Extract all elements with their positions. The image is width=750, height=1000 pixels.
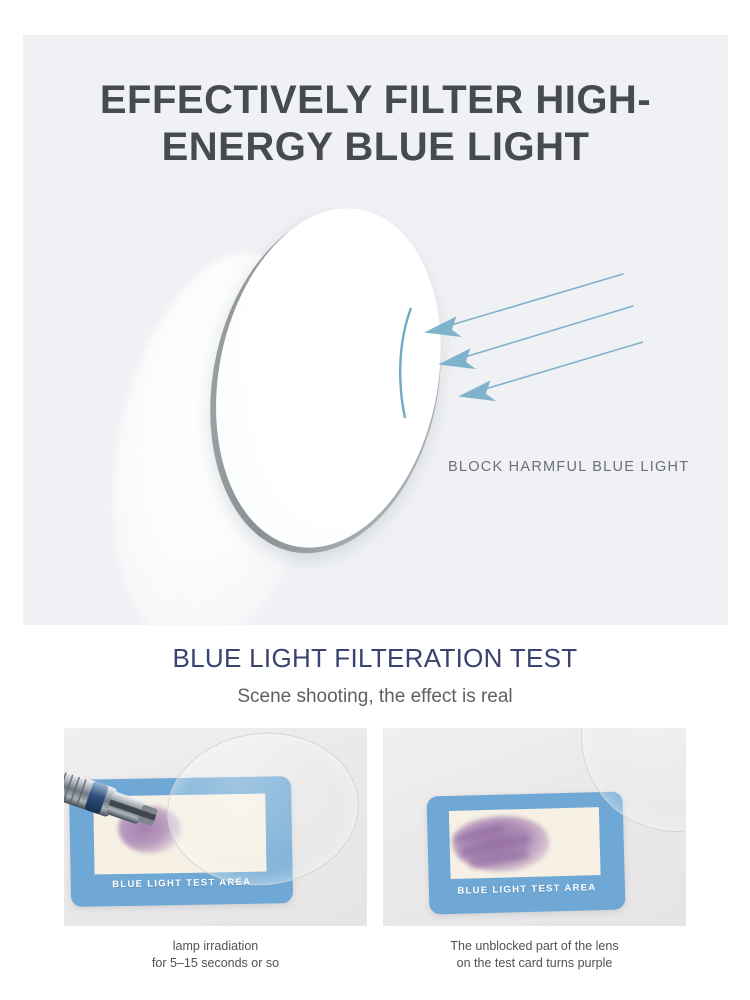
page-title: EFFECTIVELY FILTER HIGH- ENERGY BLUE LIG… [23,77,728,171]
lamp-irradiation-photo: BLUE LIGHT TEST AREA [64,728,367,926]
test-card-result-caption: The unblocked part of the lens on the te… [383,938,686,971]
test-section-subtitle: Scene shooting, the effect is real [0,686,750,708]
lamp-irradiation-caption: lamp irradiation for 5–15 seconds or so [64,938,367,971]
test-section-title: BLUE LIGHT FILTERATION TEST [0,643,750,674]
block-blue-light-caption: BLOCK HARMFUL BLUE LIGHT [448,459,689,475]
test-card-label: BLUE LIGHT TEST AREA [429,881,625,897]
hero-panel: EFFECTIVELY FILTER HIGH- ENERGY BLUE LIG… [23,35,728,625]
promo-page: EFFECTIVELY FILTER HIGH- ENERGY BLUE LIG… [0,0,750,1000]
blue-light-arrows [393,270,643,420]
test-card-result-photo: BLUE LIGHT TEST AREA [383,728,686,926]
blue-light-arrows-icon [393,270,643,420]
